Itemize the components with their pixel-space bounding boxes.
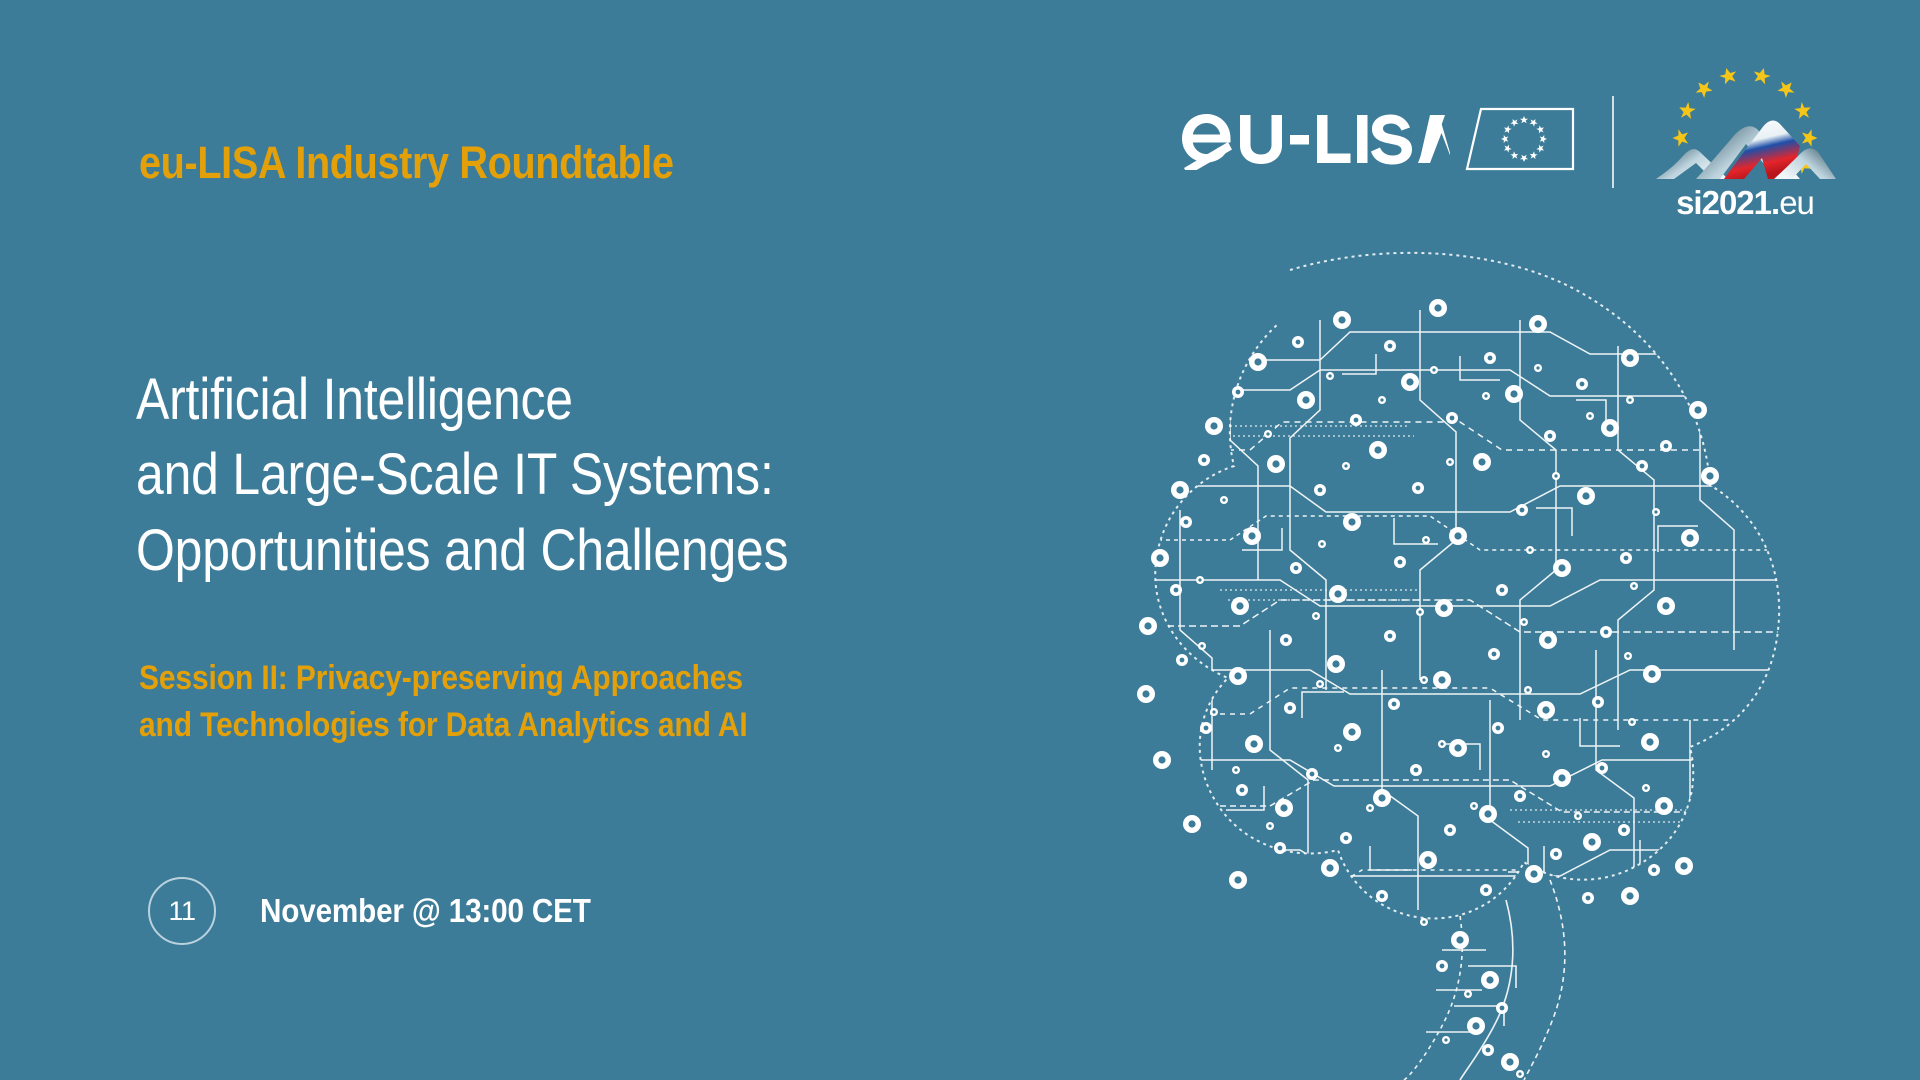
logo-lockup: si2021.eu bbox=[1178, 72, 1840, 212]
heading-line-3: Opportunities and Challenges bbox=[136, 513, 788, 588]
date-time-text: November @ 13:00 CET bbox=[260, 892, 591, 930]
session-line-1: Session II: Privacy-preserving Approache… bbox=[139, 655, 748, 702]
eulisa-wordmark-icon bbox=[1178, 108, 1450, 170]
session-subtitle: Session II: Privacy-preserving Approache… bbox=[139, 655, 748, 749]
heading-line-2: and Large-Scale IT Systems: bbox=[136, 437, 788, 512]
si2021-presidency-logo: si2021.eu bbox=[1650, 62, 1840, 222]
page-title: Artificial Intelligence and Large-Scale … bbox=[136, 362, 788, 588]
event-title: eu-LISA Industry Roundtable bbox=[139, 140, 674, 185]
eulisa-logo bbox=[1178, 106, 1576, 172]
si2021-wordmark: si2021.eu bbox=[1676, 184, 1814, 221]
heading-line-1: Artificial Intelligence bbox=[136, 362, 788, 437]
poster-canvas: eu-LISA Industry Roundtable bbox=[0, 0, 1920, 1080]
circuit-brain-illustration bbox=[990, 250, 1800, 1080]
eu-flag-icon bbox=[1464, 106, 1576, 172]
mountain-ribbon-shape bbox=[1656, 121, 1836, 179]
svg-text:si2021.eu: si2021.eu bbox=[1676, 184, 1814, 221]
event-date-row: 11 November @ 13:00 CET bbox=[148, 877, 627, 945]
session-line-2: and Technologies for Data Analytics and … bbox=[139, 702, 748, 749]
logo-divider bbox=[1612, 96, 1614, 188]
date-day-badge: 11 bbox=[148, 877, 216, 945]
